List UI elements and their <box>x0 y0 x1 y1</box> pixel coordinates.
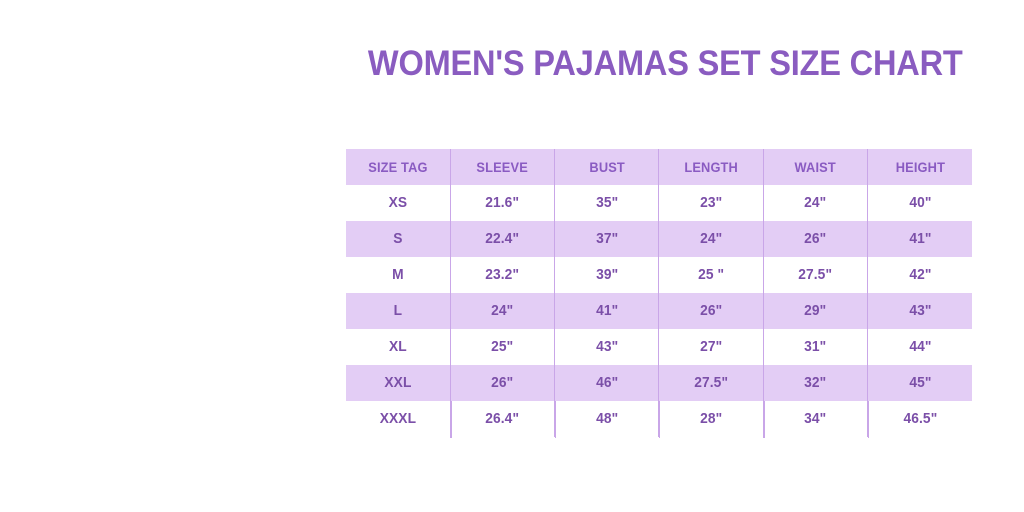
cell-waist: 29" <box>766 293 865 329</box>
cell-height: 45" <box>870 365 969 401</box>
cell-waist: 26" <box>766 221 865 257</box>
cell-waist: 27.5" <box>766 257 865 293</box>
column-header-size-tag: SIZE TAG <box>349 149 448 185</box>
cell-height: 40" <box>870 185 969 221</box>
cell-length: 27.5" <box>662 365 761 401</box>
cell-size-tag: S <box>349 221 448 257</box>
table-header: SIZE TAG SLEEVE BUST LENGTH WAIST HEIGHT <box>346 149 972 185</box>
table-header-row: SIZE TAG SLEEVE BUST LENGTH WAIST HEIGHT <box>346 149 972 185</box>
column-header-waist: WAIST <box>766 149 865 185</box>
table-row: XS 21.6" 35" 23" 24" 40" <box>346 185 972 221</box>
cell-bust: 48" <box>557 401 656 437</box>
cell-length: 27" <box>662 329 761 365</box>
column-header-sleeve: SLEEVE <box>453 149 552 185</box>
column-header-height: HEIGHT <box>870 149 969 185</box>
cell-length: 28" <box>662 401 761 437</box>
cell-sleeve: 23.2" <box>453 257 552 293</box>
cell-waist: 32" <box>766 365 865 401</box>
cell-sleeve: 22.4" <box>453 221 552 257</box>
cell-length: 26" <box>662 293 761 329</box>
cell-bust: 43" <box>557 329 656 365</box>
table-row: XL 25" 43" 27" 31" 44" <box>346 329 972 365</box>
cell-length: 23" <box>662 185 761 221</box>
cell-size-tag: L <box>349 293 448 329</box>
table-body: XS 21.6" 35" 23" 24" 40" S 22.4" 37" 24"… <box>346 185 972 437</box>
cell-waist: 24" <box>766 185 865 221</box>
size-chart-root: WOMEN'S PAJAMAS SET SIZE CHART SIZE TAG … <box>0 0 1024 512</box>
cell-sleeve: 26" <box>453 365 552 401</box>
table-row: L 24" 41" 26" 29" 43" <box>346 293 972 329</box>
column-header-bust: BUST <box>557 149 656 185</box>
cell-waist: 34" <box>766 401 865 437</box>
cell-length: 25 " <box>662 257 761 293</box>
cell-height: 46.5" <box>870 401 969 437</box>
cell-sleeve: 21.6" <box>453 185 552 221</box>
cell-size-tag: XXXL <box>349 401 448 437</box>
cell-length: 24" <box>662 221 761 257</box>
page-title: WOMEN'S PAJAMAS SET SIZE CHART <box>368 44 950 84</box>
column-header-length: LENGTH <box>662 149 761 185</box>
cell-height: 42" <box>870 257 969 293</box>
cell-height: 43" <box>870 293 969 329</box>
cell-size-tag: XS <box>349 185 448 221</box>
cell-bust: 41" <box>557 293 656 329</box>
cell-bust: 37" <box>557 221 656 257</box>
cell-sleeve: 24" <box>453 293 552 329</box>
cell-size-tag: XXL <box>349 365 448 401</box>
cell-sleeve: 25" <box>453 329 552 365</box>
cell-size-tag: XL <box>349 329 448 365</box>
cell-bust: 35" <box>557 185 656 221</box>
table-row: XXXL 26.4" 48" 28" 34" 46.5" <box>346 401 972 437</box>
table-row: S 22.4" 37" 24" 26" 41" <box>346 221 972 257</box>
cell-bust: 39" <box>557 257 656 293</box>
cell-waist: 31" <box>766 329 865 365</box>
table-row: M 23.2" 39" 25 " 27.5" 42" <box>346 257 972 293</box>
cell-bust: 46" <box>557 365 656 401</box>
cell-size-tag: M <box>349 257 448 293</box>
size-chart-table: SIZE TAG SLEEVE BUST LENGTH WAIST HEIGHT… <box>346 149 972 437</box>
cell-height: 41" <box>870 221 969 257</box>
cell-height: 44" <box>870 329 969 365</box>
table-row: XXL 26" 46" 27.5" 32" 45" <box>346 365 972 401</box>
cell-sleeve: 26.4" <box>453 401 552 437</box>
